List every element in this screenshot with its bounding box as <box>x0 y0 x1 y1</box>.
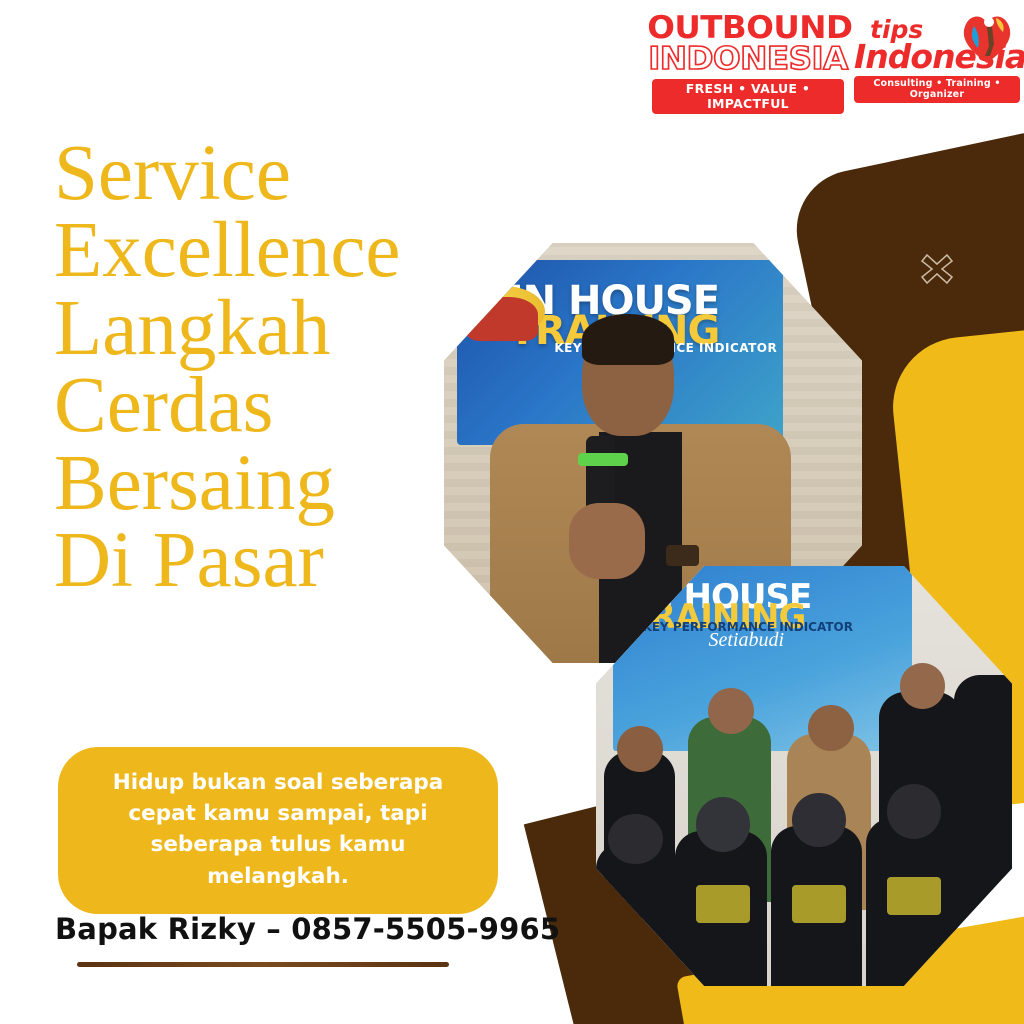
headline-line-3: Langkah <box>54 290 534 367</box>
x-mark-icon <box>920 252 954 286</box>
speaker-hands <box>569 503 644 579</box>
quote-pill: Hidup bukan soal seberapa cepat kamu sam… <box>58 747 498 914</box>
person-head <box>617 726 663 772</box>
logo-bar: OUTBOUND INDONESIA FRESH • VALUE • IMPAC… <box>652 6 1020 98</box>
shirt-logo <box>696 885 750 923</box>
contact-text: Bapak Rizky – 0857-5505-9965 <box>55 912 560 946</box>
person-head <box>887 784 941 839</box>
outbound-logo-tagline: FRESH • VALUE • IMPACTFUL <box>652 79 844 114</box>
tips-logo-tagline: Consulting • Training • Organizer <box>854 76 1020 103</box>
tips-indonesia-logo: tips Indonesia Consulting • Training • O… <box>854 6 1020 103</box>
person-head <box>900 663 946 709</box>
outbound-logo-line2: INDONESIA <box>647 44 849 76</box>
person-head <box>708 688 754 734</box>
headline-line-4: Cerdas <box>54 367 534 444</box>
team-photo: IN HOUSE TRAINING KEY PERFORMANCE INDICA… <box>596 566 1012 986</box>
person-head <box>792 793 846 848</box>
person-head <box>808 705 854 751</box>
headline-line-2: Excellence <box>54 212 534 289</box>
headline-line-1: Service <box>54 135 534 212</box>
speaker-hair <box>582 314 674 364</box>
poster-canvas: OUTBOUND INDONESIA FRESH • VALUE • IMPAC… <box>0 0 1024 1024</box>
shirt-logo <box>792 885 846 923</box>
contact-underline <box>77 962 449 967</box>
person-head <box>696 797 750 852</box>
shirt-logo <box>887 877 941 915</box>
person-head <box>608 814 662 864</box>
headline-line-6: Di Pasar <box>54 522 534 599</box>
microphone-band <box>578 453 628 466</box>
team-banner-signature: Setiabudi <box>708 629 784 652</box>
headline-line-5: Bersaing <box>54 445 534 522</box>
outbound-indonesia-logo: OUTBOUND INDONESIA FRESH • VALUE • IMPAC… <box>652 6 844 114</box>
headline: Service Excellence Langkah Cerdas Bersai… <box>54 135 534 599</box>
tips-person-mark-icon <box>956 6 1018 68</box>
speaker-watch <box>666 545 699 566</box>
outbound-logo-line1: OUTBOUND <box>647 13 849 44</box>
